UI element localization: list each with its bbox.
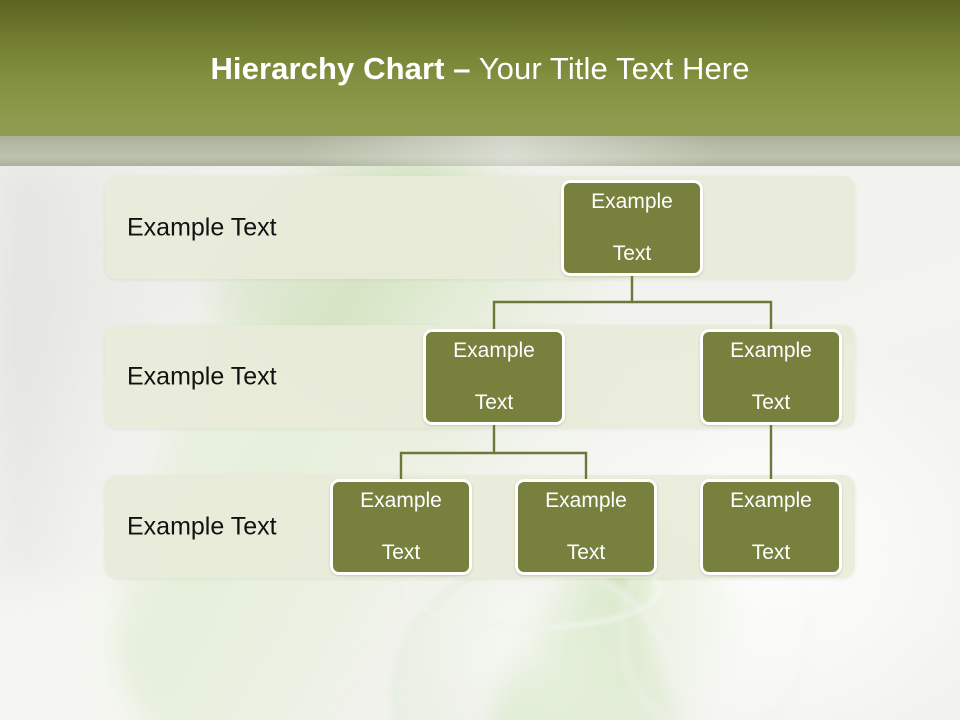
node-a2-line1: Example bbox=[539, 488, 633, 514]
page-title-regular-part: Your Title Text Here bbox=[471, 51, 750, 86]
node-b-line1: Example bbox=[724, 338, 818, 364]
node-b1-line1: Example bbox=[724, 488, 818, 514]
row-3-label: Example Text bbox=[127, 512, 277, 541]
node-a1-line2: Text bbox=[354, 540, 448, 566]
node-a-line2: Text bbox=[447, 390, 541, 416]
node-level3-middle[interactable]: ExampleText bbox=[515, 479, 657, 575]
header-accent-band bbox=[0, 136, 960, 166]
node-a-line1: Example bbox=[447, 338, 541, 364]
page-title: Hierarchy Chart – Your Title Text Here bbox=[0, 50, 960, 88]
node-a1-line1: Example bbox=[354, 488, 448, 514]
title-header-bar: Hierarchy Chart – Your Title Text Here bbox=[0, 0, 960, 136]
node-b1-line2: Text bbox=[724, 540, 818, 566]
row-2-label: Example Text bbox=[127, 362, 277, 391]
node-a2-line2: Text bbox=[539, 540, 633, 566]
node-root-line2: Text bbox=[585, 241, 679, 267]
node-level3-left[interactable]: ExampleText bbox=[330, 479, 472, 575]
node-root-line1: Example bbox=[585, 189, 679, 215]
node-level2-right[interactable]: ExampleText bbox=[700, 329, 842, 425]
node-root[interactable]: ExampleText bbox=[561, 180, 703, 276]
node-level3-right[interactable]: ExampleText bbox=[700, 479, 842, 575]
row-1-label: Example Text bbox=[127, 213, 277, 242]
node-level2-left[interactable]: ExampleText bbox=[423, 329, 565, 425]
slide-canvas: Hierarchy Chart – Your Title Text Here E… bbox=[0, 0, 960, 720]
node-b-line2: Text bbox=[724, 390, 818, 416]
hierarchy-row-1: Example Text bbox=[105, 176, 855, 279]
page-title-bold-part: Hierarchy Chart – bbox=[210, 51, 470, 86]
